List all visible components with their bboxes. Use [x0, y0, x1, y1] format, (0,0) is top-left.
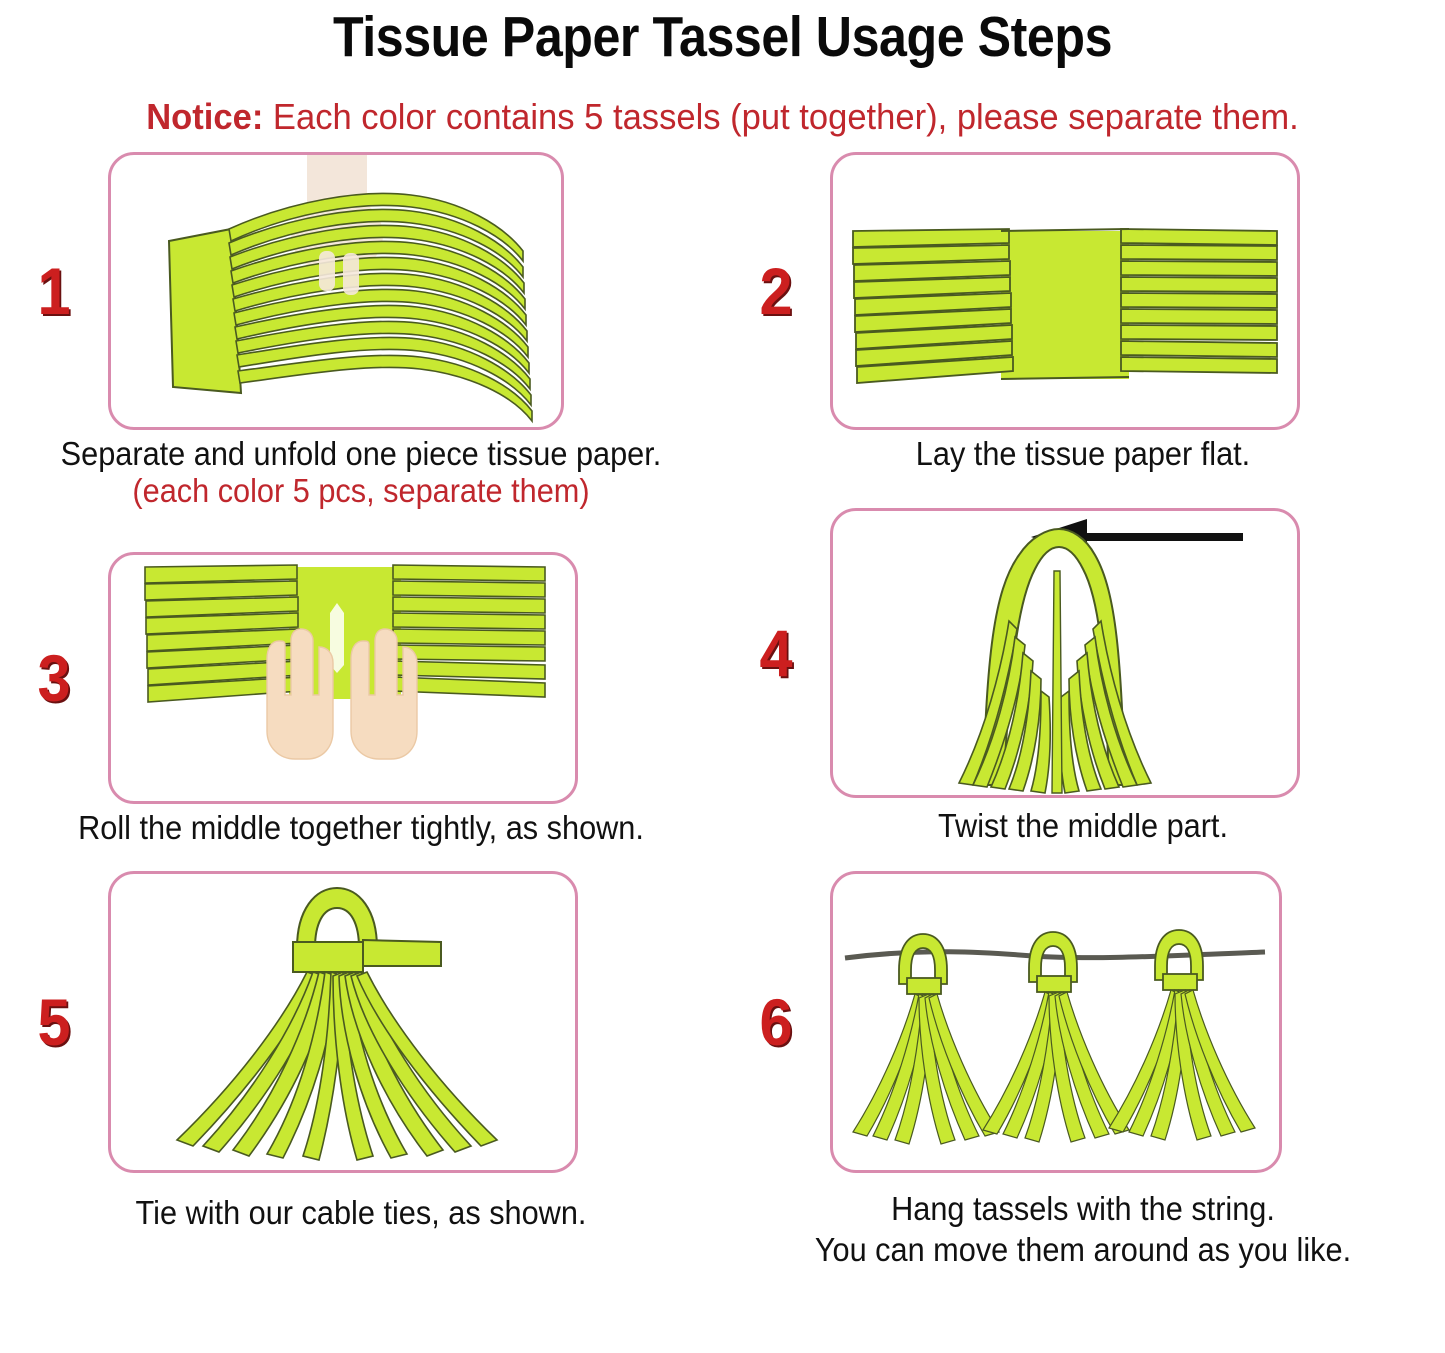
- step-1-panel: [108, 152, 564, 430]
- step-2-caption: Lay the tissue paper flat.: [747, 436, 1418, 473]
- fringed-tissue-held-in-hand-illustration: [111, 155, 561, 427]
- step-1-subcaption: (each color 5 pcs, separate them): [25, 473, 696, 510]
- step-5: 5: [0, 871, 722, 1173]
- step-4-panel: [830, 508, 1300, 798]
- step-4-column: 4: [722, 508, 1444, 847]
- step-5-captions: Tie with our cable ties, as shown.: [0, 1195, 722, 1232]
- step-6-subcaption: You can move them around as you like.: [747, 1232, 1418, 1269]
- flat-fringed-sheet-illustration: [833, 155, 1297, 427]
- left-hand-icon: [267, 629, 333, 759]
- step-4-caption: Twist the middle part.: [747, 808, 1418, 845]
- tassel-3: [1109, 930, 1255, 1140]
- notice-label: Notice:: [146, 96, 263, 137]
- step-2-panel: [830, 152, 1300, 430]
- step-1: 1: [0, 152, 722, 430]
- step-3-panel: [108, 552, 578, 804]
- step-5-column: 5: [0, 871, 722, 1269]
- step-3-caption: Roll the middle together tightly, as sho…: [25, 810, 696, 847]
- step-4-number: 4: [727, 615, 824, 691]
- notice-text: Each color contains 5 tassels (put toget…: [263, 96, 1298, 137]
- steps-row-3: 5: [0, 871, 1445, 1269]
- tassel-1: [853, 934, 999, 1144]
- step-6-panel: [830, 871, 1282, 1173]
- step-2-number: 2: [727, 253, 824, 329]
- tassel-tied-with-cable-tie-illustration: [111, 874, 575, 1170]
- notice-line: Notice: Each color contains 5 tassels (p…: [29, 96, 1416, 138]
- step-3-column: 3: [0, 508, 722, 847]
- step-6-captions: Hang tassels with the string. You can mo…: [722, 1191, 1444, 1269]
- step-3-captions: Roll the middle together tightly, as sho…: [0, 810, 722, 847]
- step-2: 2: [722, 152, 1444, 430]
- step-5-number: 5: [5, 984, 102, 1060]
- step-1-number: 1: [5, 253, 102, 329]
- step-3: 3: [0, 552, 722, 804]
- step-5-panel: [108, 871, 578, 1173]
- step-6-column: 6: [722, 871, 1444, 1269]
- step-4-captions: Twist the middle part.: [722, 808, 1444, 845]
- step-1-column: 1: [0, 152, 722, 510]
- step-5-caption: Tie with our cable ties, as shown.: [25, 1195, 696, 1232]
- three-tassels-hanging-on-string-illustration: [833, 874, 1279, 1170]
- steps-row-2: 3: [0, 508, 1445, 847]
- step-1-captions: Separate and unfold one piece tissue pap…: [0, 436, 722, 510]
- steps-grid: 1: [0, 152, 1445, 1269]
- step-3-number: 3: [5, 640, 102, 716]
- two-hands-rolling-middle-illustration: [111, 555, 575, 801]
- step-1-caption: Separate and unfold one piece tissue pap…: [25, 436, 696, 473]
- tassel-2: [983, 932, 1129, 1142]
- folded-tassel-with-arrow-illustration: [833, 511, 1297, 795]
- step-6-caption: Hang tassels with the string.: [747, 1191, 1418, 1228]
- step-2-captions: Lay the tissue paper flat.: [722, 436, 1444, 473]
- steps-row-1: 1: [0, 152, 1445, 510]
- step-4: 4: [722, 508, 1444, 798]
- step-6: 6: [722, 871, 1444, 1173]
- page-title: Tissue Paper Tassel Usage Steps: [87, 0, 1359, 68]
- step-6-number: 6: [727, 984, 824, 1060]
- right-hand-icon: [351, 629, 417, 759]
- step-2-column: 2: [722, 152, 1444, 510]
